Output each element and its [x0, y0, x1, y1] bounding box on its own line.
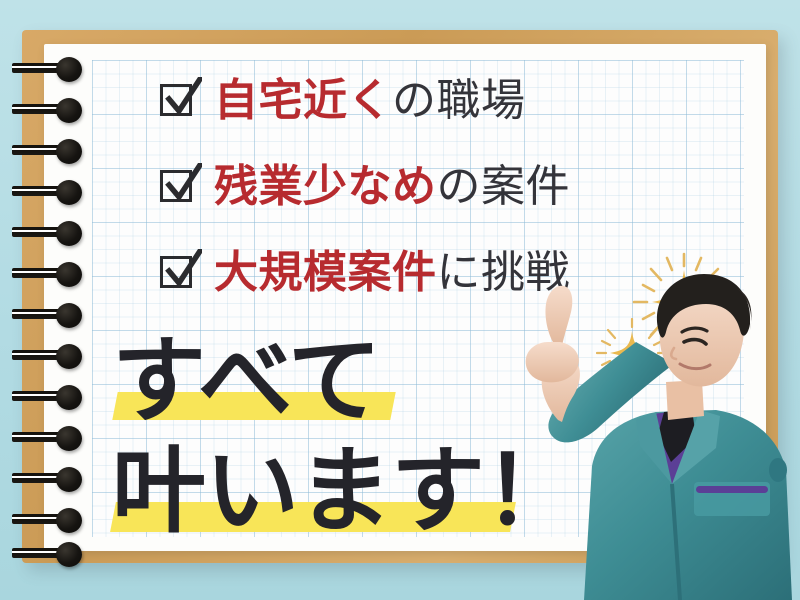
checkbox-checked-icon: [160, 254, 198, 292]
spiral-ring-icon: [12, 137, 86, 163]
spiral-ring-icon: [12, 178, 86, 204]
poster-canvas: 自宅近くの職場 残業少なめの案件 大規模案件に挑戦: [0, 0, 800, 600]
spiral-ring-icon: [12, 424, 86, 450]
checklist-item: 残業少なめの案件: [160, 144, 680, 230]
checklist-plain-text: の職場: [392, 75, 526, 126]
checkbox-checked-icon: [160, 168, 198, 206]
checklist-item-text: 自宅近くの職場: [214, 79, 526, 123]
headline-line-1: すべて: [112, 330, 582, 440]
spiral-ring-icon: [12, 260, 86, 286]
spiral-ring-icon: [12, 219, 86, 245]
spiral-ring-icon: [12, 342, 86, 368]
checklist-item-text: 残業少なめの案件: [214, 165, 570, 209]
checklist-highlight-text: 自宅近く: [214, 75, 392, 126]
headline-block: すべて 叶います！: [112, 330, 582, 550]
checklist-highlight-text: 残業少なめ: [214, 161, 437, 212]
spiral-ring-icon: [12, 96, 86, 122]
checklist-item-text: 大規模案件に挑戦: [214, 251, 570, 295]
headline-line-2: 叶います！: [112, 440, 582, 550]
spiral-ring-icon: [12, 465, 86, 491]
checkbox-checked-icon: [160, 82, 198, 120]
checklist-highlight-text: 大規模案件: [214, 247, 437, 298]
headline-text-1: すべて: [112, 327, 381, 436]
headline-text-2: 叶います！: [112, 437, 577, 546]
checklist-plain-text: の案件: [437, 161, 571, 212]
pointing-worker-photo: [540, 270, 800, 600]
spiral-ring-icon: [12, 540, 86, 566]
spiral-ring-icon: [12, 55, 86, 81]
spiral-ring-icon: [12, 383, 86, 409]
checklist-item: 自宅近くの職場: [160, 58, 680, 144]
spiral-ring-icon: [12, 301, 86, 327]
spiral-ring-icon: [12, 506, 86, 532]
spiral-binding: [0, 0, 110, 600]
